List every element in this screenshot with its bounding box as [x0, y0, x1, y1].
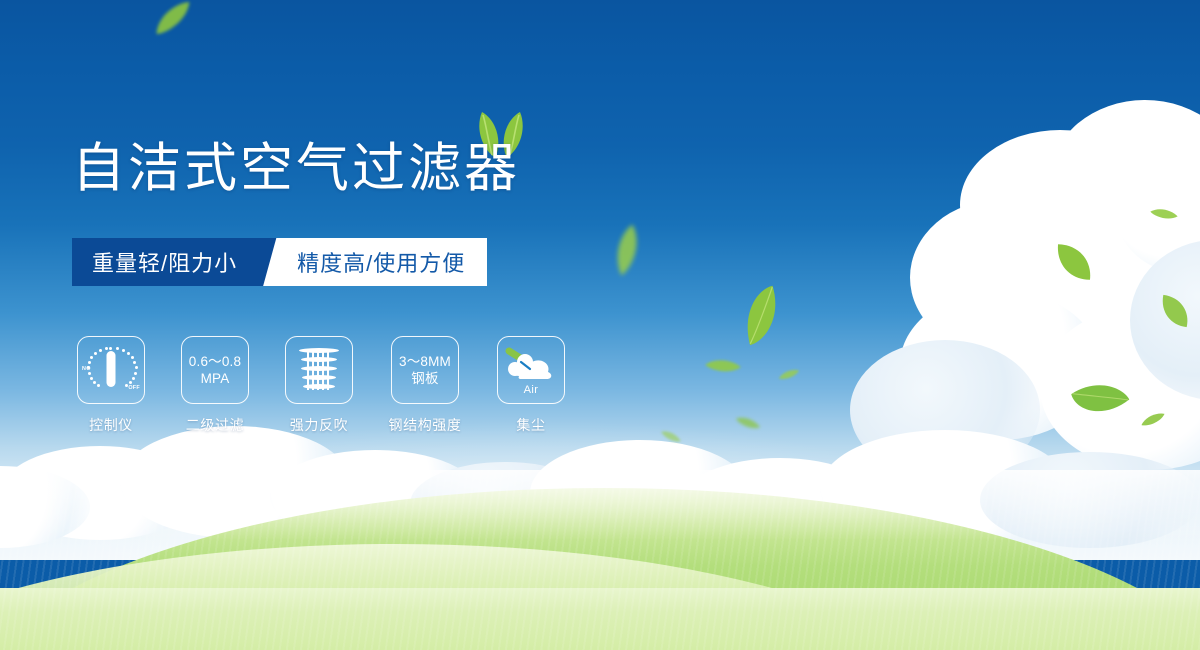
feature-icon-box	[285, 336, 353, 404]
air-caption: Air	[503, 384, 559, 396]
feature-item-steel-strength[interactable]: 3～8MM 钢板 钢结构强度	[384, 336, 466, 435]
dial-off-label: OFF	[128, 385, 140, 391]
feature-label: 集尘	[516, 415, 545, 435]
banner-stage: 自洁式空气过滤器 重量轻/阻力小 精度高/使用方便 NO OFF	[0, 0, 1200, 650]
feature-label: 二级过滤	[186, 415, 244, 435]
steel-plate-text-icon: 3～8MM 钢板	[399, 353, 451, 388]
subtitle-left-segment: 重量轻/阻力小	[72, 238, 263, 286]
subtitle-bar: 重量轻/阻力小 精度高/使用方便	[72, 238, 487, 286]
feature-item-blowback[interactable]: 强力反吹	[280, 336, 358, 435]
feature-icon-box: 0.6～0.8 MPA	[181, 336, 249, 404]
blowback-filter-icon	[293, 344, 345, 396]
dial-gauge-icon: NO OFF	[83, 342, 139, 398]
pressure-text-icon: 0.6～0.8 MPA	[189, 353, 241, 388]
banner-content: 自洁式空气过滤器 重量轻/阻力小 精度高/使用方便 NO OFF	[0, 0, 1200, 650]
feature-label: 控制仪	[89, 415, 133, 435]
subtitle-right-segment: 精度高/使用方便	[293, 238, 487, 286]
feature-item-dust-collection[interactable]: Air 集尘	[492, 336, 570, 435]
air-cloud-icon: Air	[503, 345, 559, 395]
feature-list: NO OFF	[72, 336, 570, 435]
feature-icon-box: Air	[497, 336, 565, 404]
feature-item-secondary-filter[interactable]: 0.6～0.8 MPA 二级过滤	[176, 336, 254, 435]
feature-label: 强力反吹	[290, 415, 348, 435]
page-title: 自洁式空气过滤器	[72, 142, 520, 195]
feature-label: 钢结构强度	[389, 415, 462, 435]
feature-icon-box: NO OFF	[77, 336, 145, 404]
subtitle-divider-wedge	[263, 238, 293, 286]
feature-icon-box: 3～8MM 钢板	[391, 336, 459, 404]
feature-item-controller[interactable]: NO OFF	[72, 336, 150, 435]
